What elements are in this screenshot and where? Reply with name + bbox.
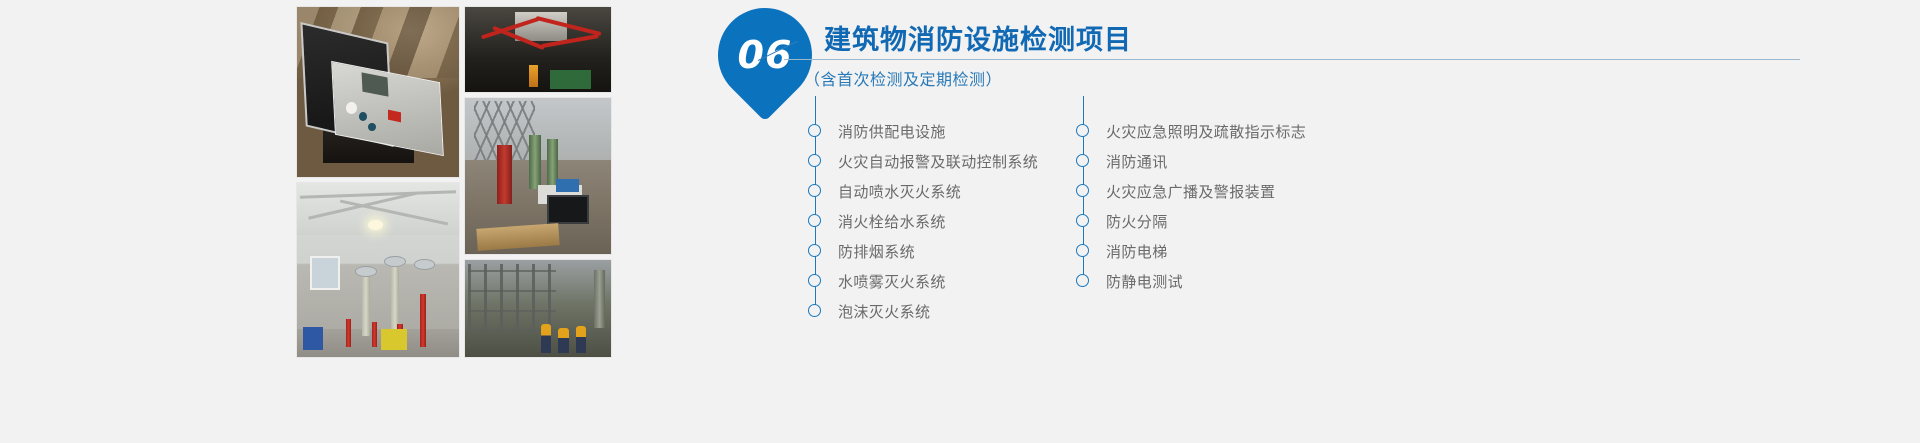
list-item[interactable]: 防静电测试 <box>1076 266 1306 296</box>
page-title: 建筑物消防设施检测项目 <box>824 18 1132 57</box>
page-root: 06 建筑物消防设施检测项目 （含首次检测及定期检测） 消防供配电设施 火灾自动… <box>0 0 1920 443</box>
photo-content <box>465 98 611 254</box>
bullet-circle-icon <box>1076 274 1089 287</box>
list-item-label: 火灾应急广播及警报装置 <box>1106 181 1275 202</box>
corona-ring <box>384 256 405 267</box>
list-item-label: 防静电测试 <box>1106 271 1183 292</box>
title-divider <box>784 59 1800 60</box>
photo-portable-test-instrument-case <box>296 6 460 178</box>
ceiling-lamp <box>368 220 383 230</box>
instrument-knob <box>346 102 357 114</box>
list-item[interactable]: 水喷雾灭火系统 <box>808 266 1038 296</box>
list-item-label: 自动喷水灭火系统 <box>838 181 961 202</box>
list-item-label: 防火分隔 <box>1106 211 1168 232</box>
list-item-label: 水喷雾灭火系统 <box>838 271 946 292</box>
list-item-label: 消火栓给水系统 <box>838 211 946 232</box>
list-item-label: 防排烟系统 <box>838 241 915 262</box>
list-item[interactable]: 火灾应急照明及疏散指示标志 <box>1076 116 1306 146</box>
bullet-circle-icon <box>1076 154 1089 167</box>
photo-red-test-cables-on-equipment <box>464 6 612 93</box>
list-item[interactable]: 防火分隔 <box>1076 206 1306 236</box>
yellow-equipment <box>381 329 407 350</box>
photo-content <box>297 183 459 357</box>
bullet-circle-icon <box>1076 184 1089 197</box>
photo-content <box>465 7 611 92</box>
bullet-circle-icon <box>808 244 821 257</box>
section-number-badge: 06 <box>718 8 812 102</box>
instrument-knob <box>359 112 367 121</box>
bullet-circle-icon <box>808 214 821 227</box>
field-laptop <box>547 195 589 224</box>
page-subtitle: （含首次检测及定期检测） <box>804 66 1002 90</box>
bullet-circle-icon <box>808 304 821 317</box>
bullet-circle-icon <box>1076 214 1089 227</box>
green-insulator <box>529 135 541 188</box>
equipment-post <box>594 270 606 328</box>
list-item-label: 消防供配电设施 <box>838 121 946 142</box>
photo-substation-yard-with-workers <box>464 259 612 358</box>
corona-ring <box>414 259 435 270</box>
bullet-circle-icon <box>808 184 821 197</box>
photo-content <box>465 260 611 357</box>
list-item[interactable]: 泡沫灭火系统 <box>808 296 1038 326</box>
list-item[interactable]: 消防供配电设施 <box>808 116 1038 146</box>
inspection-list-right: 火灾应急照明及疏散指示标志 消防通讯 火灾应急广播及警报装置 防火分隔 消防电梯 <box>1076 96 1306 296</box>
list-item-label: 火灾应急照明及疏散指示标志 <box>1106 121 1306 142</box>
list-item[interactable]: 火灾应急广播及警报装置 <box>1076 176 1306 206</box>
list-item[interactable]: 自动喷水灭火系统 <box>808 176 1038 206</box>
inspection-list-left: 消防供配电设施 火灾自动报警及联动控制系统 自动喷水灭火系统 消火栓给水系统 防… <box>808 96 1038 326</box>
project-photo-gallery <box>296 6 612 358</box>
red-test-column <box>497 145 512 204</box>
photo-outdoor-substation-test-site <box>464 97 612 255</box>
red-equipment <box>372 322 378 346</box>
list-item[interactable]: 消防通讯 <box>1076 146 1306 176</box>
insulator-column <box>362 274 370 337</box>
red-equipment <box>420 294 426 346</box>
bullet-circle-icon <box>808 154 821 167</box>
steel-structure <box>468 264 556 332</box>
bullet-circle-icon <box>808 124 821 137</box>
corona-ring <box>355 266 376 277</box>
worker <box>576 326 586 353</box>
bullet-circle-icon <box>1076 244 1089 257</box>
list-item-label: 泡沫灭火系统 <box>838 301 930 322</box>
section-number: 06 <box>718 8 812 102</box>
list-item-label: 火灾自动报警及联动控制系统 <box>838 151 1038 172</box>
list-item[interactable]: 火灾自动报警及联动控制系统 <box>808 146 1038 176</box>
list-item[interactable]: 消防电梯 <box>1076 236 1306 266</box>
worker <box>558 328 568 353</box>
list-item[interactable]: 消火栓给水系统 <box>808 206 1038 236</box>
instrument-red-button <box>388 109 401 122</box>
photo-content <box>297 7 459 177</box>
hall-window <box>310 256 340 290</box>
worker <box>541 324 551 353</box>
list-item[interactable]: 防排烟系统 <box>808 236 1038 266</box>
photo-indoor-high-voltage-test-hall <box>296 182 460 358</box>
gallery-column-right <box>464 6 612 358</box>
bullet-circle-icon <box>808 274 821 287</box>
red-equipment <box>346 319 352 347</box>
bullet-circle-icon <box>1076 124 1089 137</box>
axis-lead-in <box>808 96 1038 116</box>
list-item-label: 消防电梯 <box>1106 241 1168 262</box>
inspection-items: 消防供配电设施 火灾自动报警及联动控制系统 自动喷水灭火系统 消火栓给水系统 防… <box>700 96 1800 326</box>
gallery-column-left <box>296 6 460 358</box>
section-content: 06 建筑物消防设施检测项目 （含首次检测及定期检测） 消防供配电设施 火灾自动… <box>700 0 1800 443</box>
blue-panel <box>556 179 579 191</box>
orange-component <box>529 65 538 87</box>
axis-lead-in <box>1076 96 1306 116</box>
list-item-label: 消防通讯 <box>1106 151 1168 172</box>
green-circuit-board <box>550 70 591 89</box>
blue-equipment <box>303 327 322 350</box>
